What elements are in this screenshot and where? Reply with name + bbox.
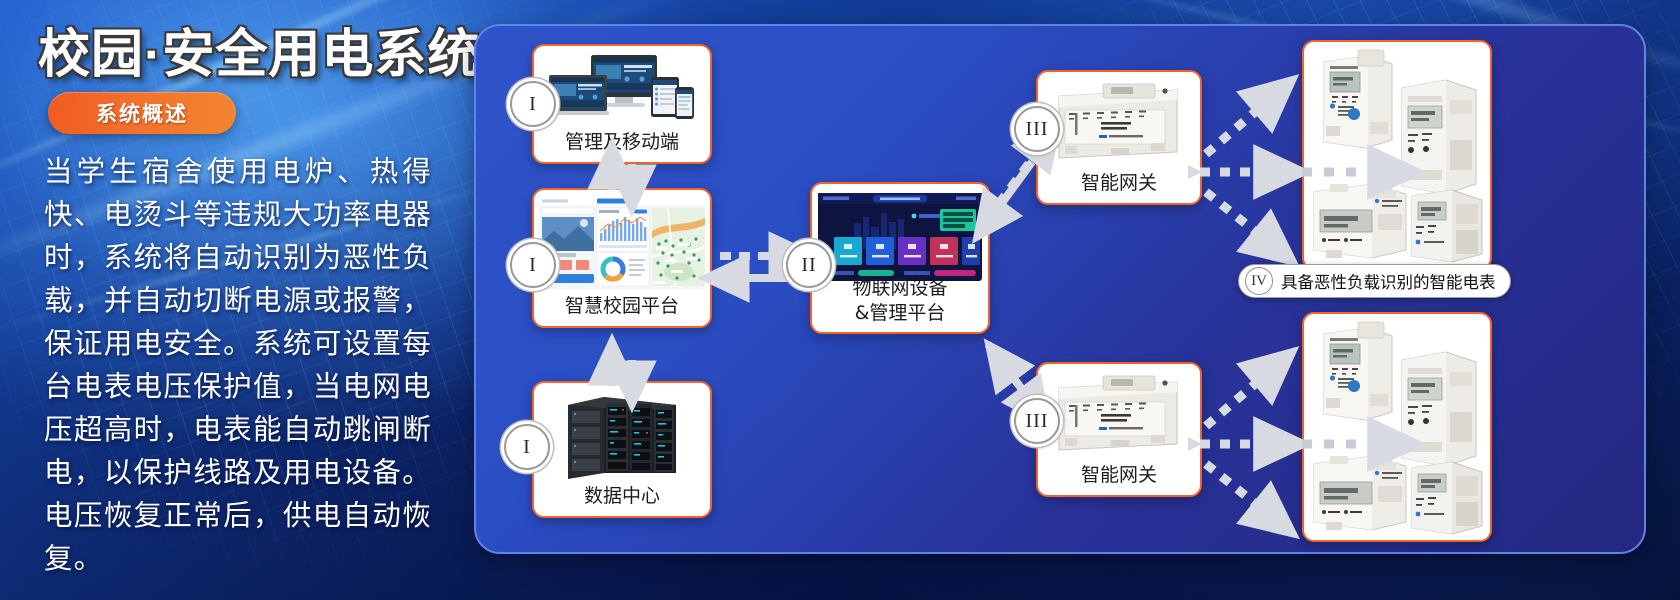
numeral-badge-iot-platform: II bbox=[786, 242, 832, 288]
numeral-badge-data-center: I bbox=[504, 424, 550, 470]
meter-chip-text: 具备恶性负载识别的智能电表 bbox=[1281, 269, 1496, 293]
meter-chip-label[interactable]: IV 具备恶性负载识别的智能电表 bbox=[1238, 264, 1511, 298]
numeral-badge-campus-platform: I bbox=[510, 242, 556, 288]
system-description: 当学生宿舍使用电炉、热得快、电烫斗等违规大功率电器时，系统将自动识别为恶性负载，… bbox=[44, 150, 432, 580]
arrow-iot-gateway-top bbox=[988, 140, 1046, 222]
diagram-panel: 管理及移动端 I bbox=[474, 24, 1646, 554]
page-title: 校园·安全用电系统 bbox=[38, 12, 480, 87]
arrow-campus-datacenter bbox=[612, 360, 632, 386]
numeral-badge-meters: IV bbox=[1245, 267, 1273, 295]
arrow-gateway-top-meters bbox=[1200, 94, 1396, 248]
arrow-gateway-bottom-meters bbox=[1200, 366, 1396, 520]
arrow-meters-to-gateway bbox=[1188, 165, 1202, 451]
arrow-admin-campus bbox=[612, 164, 632, 190]
numeral-badge-admin-mobile: I bbox=[510, 81, 556, 127]
numeral-badge-gateway-top: III bbox=[1014, 106, 1060, 152]
section-badge: 系统概述 bbox=[48, 92, 236, 134]
numeral-badge-gateway-bottom: III bbox=[1014, 398, 1060, 444]
left-column: 校园·安全用电系统 系统概述 当学生宿舍使用电炉、热得快、电烫斗等违规大功率电器… bbox=[0, 0, 470, 600]
